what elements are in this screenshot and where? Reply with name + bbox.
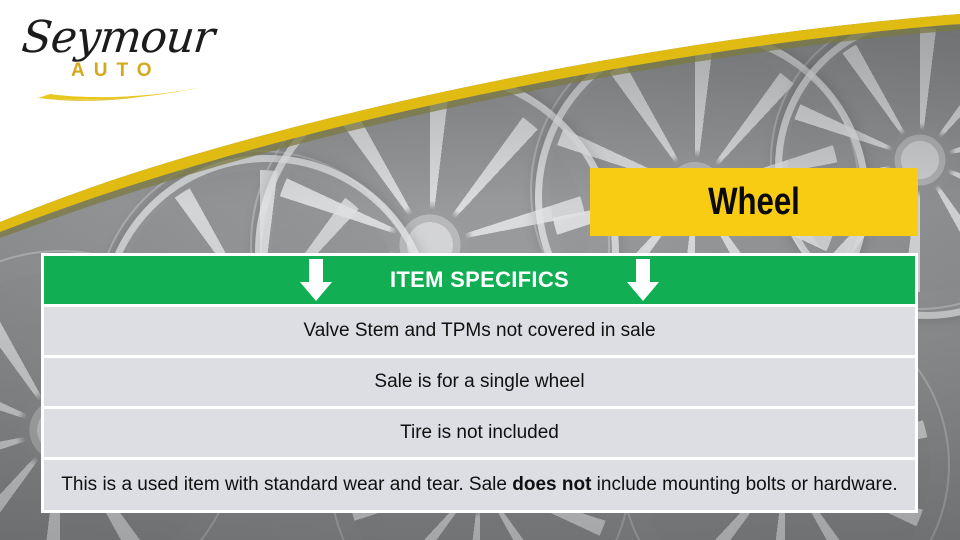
spec-footer-prefix: This is a used item with standard wear a…: [61, 474, 512, 495]
arrow-down-icon: [298, 258, 334, 302]
table-row-footer: This is a used item with standard wear a…: [44, 460, 915, 510]
slide-canvas: Seymour AUTO Wheel ITEM SPECIFICS Valve …: [0, 0, 960, 540]
spec-row-text: Sale is for a single wheel: [374, 371, 584, 393]
logo-script-text: Seymour: [19, 12, 216, 63]
item-specifics-label: ITEM SPECIFICS: [390, 267, 569, 293]
brand-logo: Seymour AUTO: [16, 14, 206, 106]
table-row: Tire is not included: [44, 409, 915, 457]
swoosh-icon: [36, 80, 204, 102]
spec-footer-emphasis: does not: [512, 474, 591, 495]
table-row: Sale is for a single wheel: [44, 358, 915, 406]
spec-row-text: Valve Stem and TPMs not covered in sale: [303, 320, 655, 342]
item-specifics-table: ITEM SPECIFICS Valve Stem and TPMs not c…: [41, 253, 918, 513]
table-row: Valve Stem and TPMs not covered in sale: [44, 307, 915, 355]
page-title: Wheel: [708, 183, 800, 221]
spec-footer-text: This is a used item with standard wear a…: [61, 474, 897, 496]
item-specifics-header: ITEM SPECIFICS: [44, 256, 915, 304]
logo-sub-text: AUTO: [71, 60, 160, 82]
arrow-down-icon: [625, 258, 661, 302]
spec-footer-suffix: include mounting bolts or hardware.: [591, 474, 897, 495]
spec-row-text: Tire is not included: [400, 422, 559, 444]
page-title-banner: Wheel: [590, 168, 918, 236]
